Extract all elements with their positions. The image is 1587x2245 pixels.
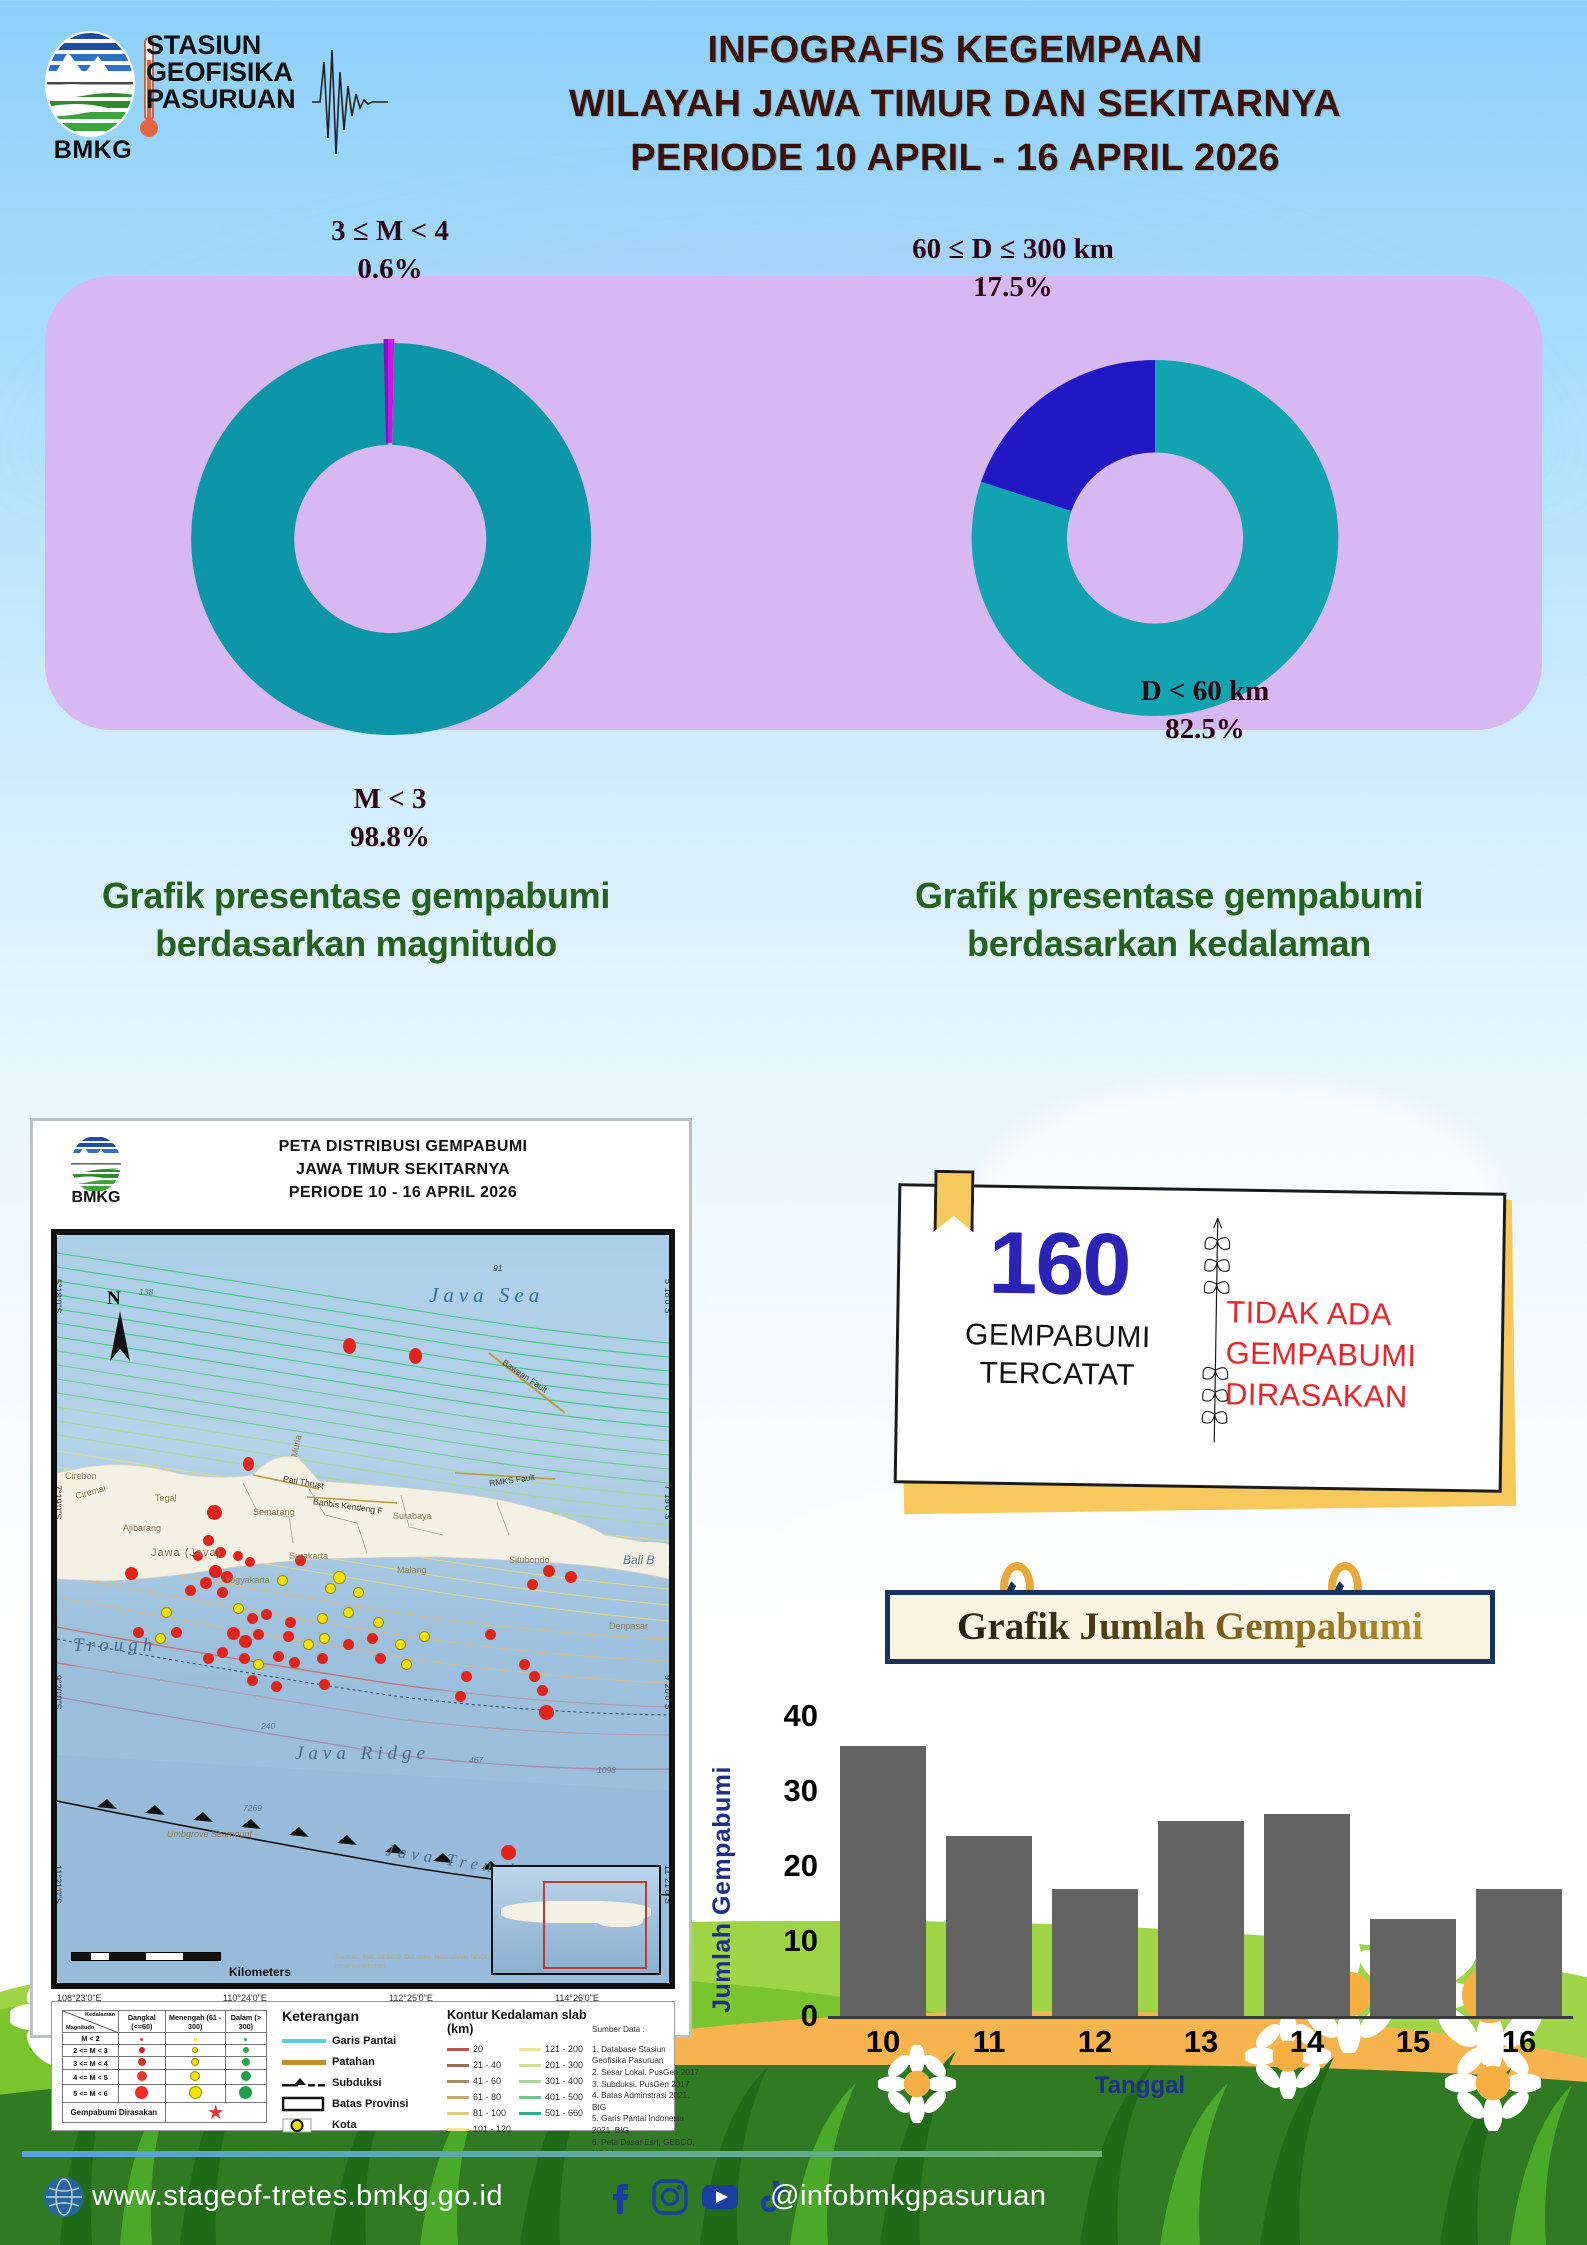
earthquake-point — [543, 1565, 555, 1577]
symbol-cell — [165, 2033, 225, 2045]
city-label-surakarta: Surakarta — [289, 1551, 328, 1561]
page-title-line-3: PERIODE 10 APRIL - 16 APRIL 2026 — [420, 132, 1490, 186]
y-tick-10: 10 — [784, 1923, 818, 1959]
felt-label: Gempabumi Dirasakan — [63, 2103, 166, 2123]
map-canvas: Java Sea Java Ridge Trough Java Trench U… — [57, 1235, 669, 1983]
contour-value-467: 467 — [469, 1755, 483, 1765]
contour-swatch-icon — [519, 2063, 541, 2068]
earthquake-point — [455, 1691, 466, 1702]
map-title-line-3: PERIODE 10 - 16 APRIL 2026 — [183, 1181, 623, 1204]
map-title-line-2: JAWA TIMUR SEKITARNYA — [183, 1158, 623, 1181]
map-source-note: Sources: Esri, GEBCO, DeLorme, NaturalVu… — [335, 1953, 515, 1971]
depth-caption-line-1: Grafik presentase gempabumi — [849, 872, 1489, 920]
map-logo-wordmark: BMKG — [59, 1189, 133, 1207]
footer: www.stageof-tretes.bmkg.go.id @infobmkgp… — [0, 2127, 1587, 2245]
symbol-cell — [119, 2045, 166, 2057]
trough-label: Trough — [73, 1635, 157, 1657]
sumber-item: 1. Database Stasiun Geofisika Pasuruan — [592, 2044, 702, 2067]
contour-value-138: 138 — [139, 1287, 153, 1297]
city-label-cirebon: Cirebon — [65, 1471, 97, 1481]
earthquake-point — [395, 1639, 406, 1650]
earthquake-point — [529, 1671, 540, 1682]
kontur-item: 21 - 40 — [447, 2057, 511, 2073]
matrix-col-deep: Dalam (> 300) — [225, 2011, 266, 2033]
kontur-item: 401 - 500 — [519, 2089, 583, 2105]
bar-12 — [1052, 1889, 1138, 2017]
matrix-row: 3 <= M < 4 — [63, 2057, 267, 2070]
kontur-item: 61 - 80 — [447, 2089, 511, 2105]
seamount-label: Umbgrove Seamount — [167, 1829, 252, 1839]
kontur-item: 81 - 100 — [447, 2105, 511, 2121]
lat-label-3r: 9°20'0"S — [663, 1675, 673, 1710]
kontur-item: 501 - 660 — [519, 2105, 583, 2121]
earthquake-point — [317, 1653, 328, 1664]
banner-title: Grafik Jumlah Gempabumi — [890, 1595, 1490, 1659]
map-header: BMKG PETA DISTRIBUSI GEMPABUMI JAWA TIMU… — [33, 1127, 689, 1209]
city-label-yogyakarta: Yogyakarta — [225, 1575, 270, 1585]
city-label-malang: Malang — [397, 1565, 427, 1575]
depth-caption: Grafik presentase gempabumi berdasarkan … — [849, 872, 1489, 968]
depth-donut-chart: 60 ≤ D ≤ 300 km 17.5% D < 60 km 82.5% Gr… — [835, 276, 1475, 748]
magnitude-caption-line-1: Grafik presentase gempabumi — [36, 872, 676, 920]
page-title-line-1: INFOGRAFIS KEGEMPAAN — [420, 24, 1490, 78]
region-label-bali: Bali B — [623, 1553, 654, 1567]
x-tick-16: 16 — [1502, 2024, 1536, 2060]
earthquake-point — [375, 1653, 386, 1664]
symbol-cell — [225, 2070, 266, 2085]
y-tick-40: 40 — [784, 1698, 818, 1734]
x-tick-11: 11 — [973, 2024, 1006, 2060]
earthquake-point — [519, 1659, 530, 1670]
lat-label-2: 7°19'0"S — [53, 1485, 63, 1520]
depth-top-label-text: 60 ≤ D ≤ 300 km — [803, 230, 1223, 268]
kontur-item: 41 - 60 — [447, 2073, 511, 2089]
earthquake-point — [401, 1659, 412, 1670]
earthquake-count-bar-chart: Jumlah Gempabumi 40 30 20 10 0 10 11 12 … — [700, 1690, 1580, 2110]
matrix-col-medium: Menengah (61 - 300) — [165, 2011, 225, 2033]
header: BMKG STASIUN GEOFISIKA PASURUAN INFOGRAF… — [0, 0, 1587, 185]
earthquake-point — [319, 1633, 330, 1644]
felt-symbol: ★ — [165, 2103, 266, 2123]
earthquake-distribution-map-card: BMKG PETA DISTRIBUSI GEMPABUMI JAWA TIMU… — [30, 1118, 692, 2038]
matrix-corner: Kedalaman Magnitudo — [63, 2011, 119, 2033]
earthquake-point — [343, 1338, 356, 1354]
symbol-cell — [119, 2033, 166, 2045]
earthquake-point — [253, 1629, 264, 1640]
earthquake-count-number: 160 — [938, 1220, 1179, 1307]
province-boundary-icon — [282, 2096, 326, 2112]
contour-value-240: 240 — [261, 1721, 275, 1731]
scale-bar-graphic — [71, 1952, 221, 1961]
chart-plot-area: 40 30 20 10 0 10 11 12 13 14 15 16 — [828, 1716, 1573, 2016]
website-url[interactable]: www.stageof-tretes.bmkg.go.id — [92, 2180, 503, 2213]
contour-swatch-icon — [447, 2079, 469, 2084]
city-label-ajibarang: Ajibarang — [123, 1523, 161, 1533]
depth-bottom-label: D < 60 km 82.5% — [1015, 672, 1395, 749]
contour-swatch-icon — [519, 2047, 541, 2052]
earthquake-point — [485, 1629, 496, 1640]
earthquake-point — [245, 1557, 255, 1567]
magnitude-top-label-text: 3 ≤ M < 4 — [180, 212, 600, 250]
earthquake-point — [325, 1583, 336, 1594]
symbol-cell — [225, 2057, 266, 2070]
bmkg-emblem-icon — [69, 1135, 123, 1193]
chart-x-axis-label: Tanggal — [700, 2072, 1580, 2100]
legend-item-province: Batas Provinsi — [282, 2093, 442, 2114]
instagram-icon[interactable] — [650, 2177, 690, 2217]
bmkg-wordmark: BMKG — [50, 136, 136, 165]
earthquake-point — [527, 1579, 538, 1590]
count-label-line-1: GEMPABUMI — [920, 1316, 1197, 1359]
matrix-row-label: 2 <= M < 3 — [63, 2045, 119, 2057]
magnitude-caption-line-2: berdasarkan magnitudo — [36, 920, 676, 968]
north-arrow-icon: N — [103, 1287, 137, 1363]
symbol-cell — [119, 2057, 166, 2070]
count-label-line-2: TERCATAT — [919, 1354, 1196, 1397]
x-tick-12: 12 — [1078, 2024, 1112, 2060]
matrix-row: M < 2 — [63, 2033, 267, 2045]
earthquake-point — [247, 1675, 258, 1686]
kontur-item: 121 - 200 — [519, 2041, 583, 2057]
earthquake-point — [419, 1631, 430, 1642]
map-legend: Kedalaman Magnitudo Dangkal (<=60) Menen… — [51, 2001, 675, 2131]
y-tick-20: 20 — [784, 1848, 818, 1884]
contour-value-1098: 1098 — [597, 1765, 616, 1775]
facebook-icon[interactable] — [600, 2177, 640, 2217]
keterangan-title: Keterangan — [282, 2008, 442, 2024]
earthquake-point — [289, 1657, 300, 1668]
kontur-item: 301 - 400 — [519, 2073, 583, 2089]
earthquake-point — [185, 1585, 196, 1596]
sumber-item: 2. Sesar Lokal. PusGen 2017 — [592, 2067, 702, 2079]
earthquake-point — [207, 1505, 222, 1520]
lat-label-2r: 7°19'0"S — [663, 1485, 673, 1520]
matrix-row: 2 <= M < 3 — [63, 2045, 267, 2057]
magnitude-donut-chart: 3 ≤ M < 4 0.6% M < 3 98.8% Grafik presen… — [70, 276, 710, 764]
symbol-cell — [225, 2033, 266, 2045]
map-scale-bar: 0 30 60 120 180 Kilometers — [71, 1951, 212, 1961]
bar-10 — [840, 1746, 926, 2016]
legend-item-subduction: Subduksi — [282, 2072, 442, 2093]
magnitude-bottom-value: 98.8% — [180, 818, 600, 856]
fault-icon — [282, 2058, 326, 2066]
contour-swatch-icon — [519, 2095, 541, 2100]
earthquake-point — [261, 1609, 272, 1620]
footer-divider — [22, 2151, 1102, 2157]
page-title: INFOGRAFIS KEGEMPAAN WILAYAH JAWA TIMUR … — [420, 24, 1490, 186]
earthquake-point — [233, 1603, 244, 1614]
earthquake-point — [203, 1653, 214, 1664]
depth-caption-line-2: berdasarkan kedalaman — [849, 920, 1489, 968]
symbol-cell — [119, 2085, 166, 2103]
earthquake-point — [227, 1627, 240, 1640]
lat-label-1r: 5°18'0"S — [663, 1279, 673, 1314]
legend-item-fault: Patahan — [282, 2051, 442, 2072]
symbol-cell — [225, 2085, 266, 2103]
contour-swatch-icon — [447, 2111, 469, 2116]
earthquake-point — [125, 1567, 138, 1580]
bar-16 — [1476, 1889, 1562, 2017]
earthquake-point — [303, 1639, 314, 1650]
matrix-col-shallow: Dangkal (<=60) — [119, 2011, 166, 2033]
magnitude-top-value: 0.6% — [180, 250, 600, 288]
magnitude-top-label: 3 ≤ M < 4 0.6% — [180, 212, 600, 289]
station-name: STASIUN GEOFISIKA PASURUAN — [146, 32, 316, 113]
coastline-icon — [282, 2037, 326, 2045]
depth-bottom-label-text: D < 60 km — [1015, 672, 1395, 710]
earthquake-point — [233, 1551, 243, 1561]
earthquake-point — [171, 1627, 182, 1638]
earthquake-point — [373, 1617, 384, 1628]
subduction-icon — [282, 2077, 326, 2089]
sumber-item: 4. Batas Adminstrasi 2021. BIG — [592, 2090, 702, 2113]
earthquake-point — [243, 1457, 254, 1471]
contour-swatch-icon — [519, 2079, 541, 2084]
symbol-cell — [165, 2045, 225, 2057]
city-label-semarang: Semarang — [253, 1507, 295, 1517]
earthquake-point — [253, 1659, 264, 1670]
earthquake-point — [283, 1631, 294, 1642]
station-line-2: GEOFISIKA — [146, 59, 316, 86]
bmkg-logo: BMKG STASIUN GEOFISIKA PASURUAN — [38, 24, 368, 164]
earthquake-point — [367, 1633, 378, 1644]
x-tick-14: 14 — [1290, 2024, 1324, 2060]
city-label-surabaya: Surabaya — [393, 1511, 432, 1521]
x-tick-13: 13 — [1184, 2024, 1218, 2060]
depth-top-value: 17.5% — [803, 268, 1223, 306]
earthquake-point — [537, 1685, 548, 1696]
earthquake-point — [539, 1705, 554, 1720]
symbol-cell — [165, 2070, 225, 2085]
svg-text:N: N — [107, 1288, 121, 1309]
earthquake-point — [343, 1607, 354, 1618]
sumber-item: 3. Subduksi. PusGen 2017 — [592, 2079, 702, 2091]
contour-swatch-icon — [447, 2047, 469, 2052]
page-title-line-2: WILAYAH JAWA TIMUR DAN SEKITARNYA — [420, 78, 1490, 132]
magnitude-donut-svg — [80, 334, 700, 764]
earthquake-point — [217, 1647, 228, 1658]
kontur-item: 20 — [447, 2041, 511, 2057]
lat-label-3: 9°20'0"S — [53, 1675, 63, 1710]
not-felt-notice: TIDAK ADA GEMPABUMI DIRASAKAN — [1225, 1292, 1489, 1419]
depth-bottom-value: 82.5% — [1015, 710, 1395, 748]
legend-item-coastline: Garis Pantai — [282, 2030, 442, 2051]
city-label-denpasar: Denpasar — [609, 1621, 648, 1631]
station-line-1: STASIUN — [146, 32, 316, 59]
earthquake-count-card: 160 GEMPABUMI TERCATAT TIDAK ADA GEMPABU… — [896, 1180, 1526, 1520]
legend-slab-contours: Kontur Kedalaman slab (km) 20 21 - 40 41… — [447, 2008, 587, 2137]
notice-line-1: TIDAK ADA — [1226, 1292, 1489, 1337]
bar-11 — [946, 1836, 1032, 2016]
magnitude-bottom-label: M < 3 98.8% — [180, 780, 600, 857]
java-sea-label: Java Sea — [429, 1283, 544, 1308]
seismic-wave-icon — [310, 42, 390, 162]
youtube-icon[interactable] — [700, 2177, 740, 2217]
lat-label-4: 11°21'0"S — [53, 1865, 63, 1904]
matrix-row: 5 <= M < 6 — [63, 2085, 267, 2103]
bar-13 — [1158, 1821, 1244, 2016]
globe-icon[interactable] — [44, 2177, 84, 2217]
sumber-title: Sumber Data : — [592, 2024, 702, 2036]
chart-y-axis-label: Jumlah Gempabumi — [708, 1766, 737, 2013]
city-label-situbondo: Situbondo — [509, 1555, 550, 1565]
matrix-row-label: M < 2 — [63, 2033, 119, 2045]
earthquake-point — [461, 1671, 472, 1682]
contour-swatch-icon — [447, 2063, 469, 2068]
chart-x-axis-line — [828, 2016, 1573, 2019]
earthquake-point — [271, 1681, 282, 1692]
felt-row: Gempabumi Dirasakan ★ — [63, 2103, 267, 2123]
earthquake-point — [217, 1587, 228, 1598]
contour-value-7269: 7269 — [243, 1803, 262, 1813]
earthquake-point — [319, 1679, 330, 1690]
earthquake-point — [317, 1613, 328, 1624]
y-tick-30: 30 — [784, 1773, 818, 1809]
earthquake-point — [161, 1607, 172, 1618]
notice-line-3: DIRASAKAN — [1225, 1374, 1488, 1419]
earthquake-point — [409, 1348, 422, 1364]
earthquake-point — [239, 1635, 252, 1648]
earthquake-point — [247, 1613, 258, 1624]
kontur-item: 201 - 300 — [519, 2057, 583, 2073]
lat-label-4r: 11°21'0"S — [663, 1865, 673, 1904]
magnitude-depth-matrix: Kedalaman Magnitudo Dangkal (<=60) Menen… — [62, 2010, 267, 2123]
contour-swatch-icon — [519, 2111, 541, 2116]
magnitude-caption: Grafik presentase gempabumi berdasarkan … — [36, 872, 676, 968]
kontur-title: Kontur Kedalaman slab (km) — [447, 2008, 587, 2036]
symbol-cell — [165, 2085, 225, 2103]
bar-chart-banner: Grafik Jumlah Gempabumi — [885, 1590, 1495, 1664]
earthquake-point — [565, 1571, 577, 1583]
bar-15 — [1370, 1919, 1456, 2017]
earthquake-count-label: GEMPABUMI TERCATAT — [919, 1316, 1196, 1397]
y-tick-0: 0 — [801, 1998, 818, 2034]
contour-value-91: 91 — [493, 1263, 502, 1273]
card-content: 160 GEMPABUMI TERCATAT TIDAK ADA GEMPABU… — [894, 1175, 1507, 1485]
contour-swatch-icon — [447, 2095, 469, 2100]
depth-top-label: 60 ≤ D ≤ 300 km 17.5% — [803, 230, 1223, 307]
map-inset[interactable] — [491, 1865, 661, 1975]
symbol-cell — [225, 2045, 266, 2057]
map-viewport[interactable]: Java Sea Java Ridge Trough Java Trench U… — [51, 1229, 675, 1989]
earthquake-point — [239, 1653, 250, 1664]
lat-label-1: 5°18'0"S — [53, 1279, 63, 1314]
earthquake-point — [203, 1535, 214, 1546]
earthquake-point — [285, 1617, 296, 1628]
magnitude-bottom-label-text: M < 3 — [180, 780, 600, 818]
star-icon: ★ — [208, 2103, 223, 2122]
earthquake-point — [273, 1651, 284, 1662]
earthquake-point — [353, 1587, 364, 1598]
kontur-right-column: 121 - 200 201 - 300 301 - 400 401 - 500 … — [519, 2041, 583, 2137]
bmkg-emblem-icon — [42, 30, 138, 138]
scale-unit: Kilometers — [229, 1965, 291, 1979]
earthquake-point — [200, 1577, 212, 1589]
x-tick-10: 10 — [866, 2024, 900, 2060]
matrix-row-label: 4 <= M < 5 — [63, 2070, 119, 2085]
matrix-row-label: 5 <= M < 6 — [63, 2085, 119, 2103]
symbol-cell — [119, 2070, 166, 2085]
symbol-cell — [165, 2057, 225, 2070]
earthquake-point — [343, 1639, 354, 1650]
kontur-left-column: 20 21 - 40 41 - 60 61 - 80 81 - 100 101 … — [447, 2041, 511, 2137]
region-label-jawa: Jawa (Java) — [151, 1547, 221, 1559]
station-line-3: PASURUAN — [146, 86, 316, 113]
legend-keterangan: Keterangan Garis Pantai Patahan Subduksi… — [282, 2008, 442, 2135]
x-tick-15: 15 — [1396, 2024, 1430, 2060]
social-handle[interactable]: @infobmkgpasuruan — [770, 2180, 1047, 2213]
earthquake-point — [277, 1575, 288, 1586]
map-title-line-1: PETA DISTRIBUSI GEMPABUMI — [183, 1135, 623, 1158]
matrix-row-label: 3 <= M < 4 — [63, 2057, 119, 2070]
java-ridge-label: Java Ridge — [295, 1743, 430, 1765]
earthquake-point — [333, 1571, 346, 1584]
notice-line-2: GEMPABUMI — [1225, 1333, 1488, 1378]
bar-14 — [1264, 1814, 1350, 2017]
map-title: PETA DISTRIBUSI GEMPABUMI JAWA TIMUR SEK… — [183, 1135, 623, 1205]
city-label-tegal: Tegal — [155, 1493, 177, 1503]
matrix-row: 4 <= M < 5 — [63, 2070, 267, 2085]
